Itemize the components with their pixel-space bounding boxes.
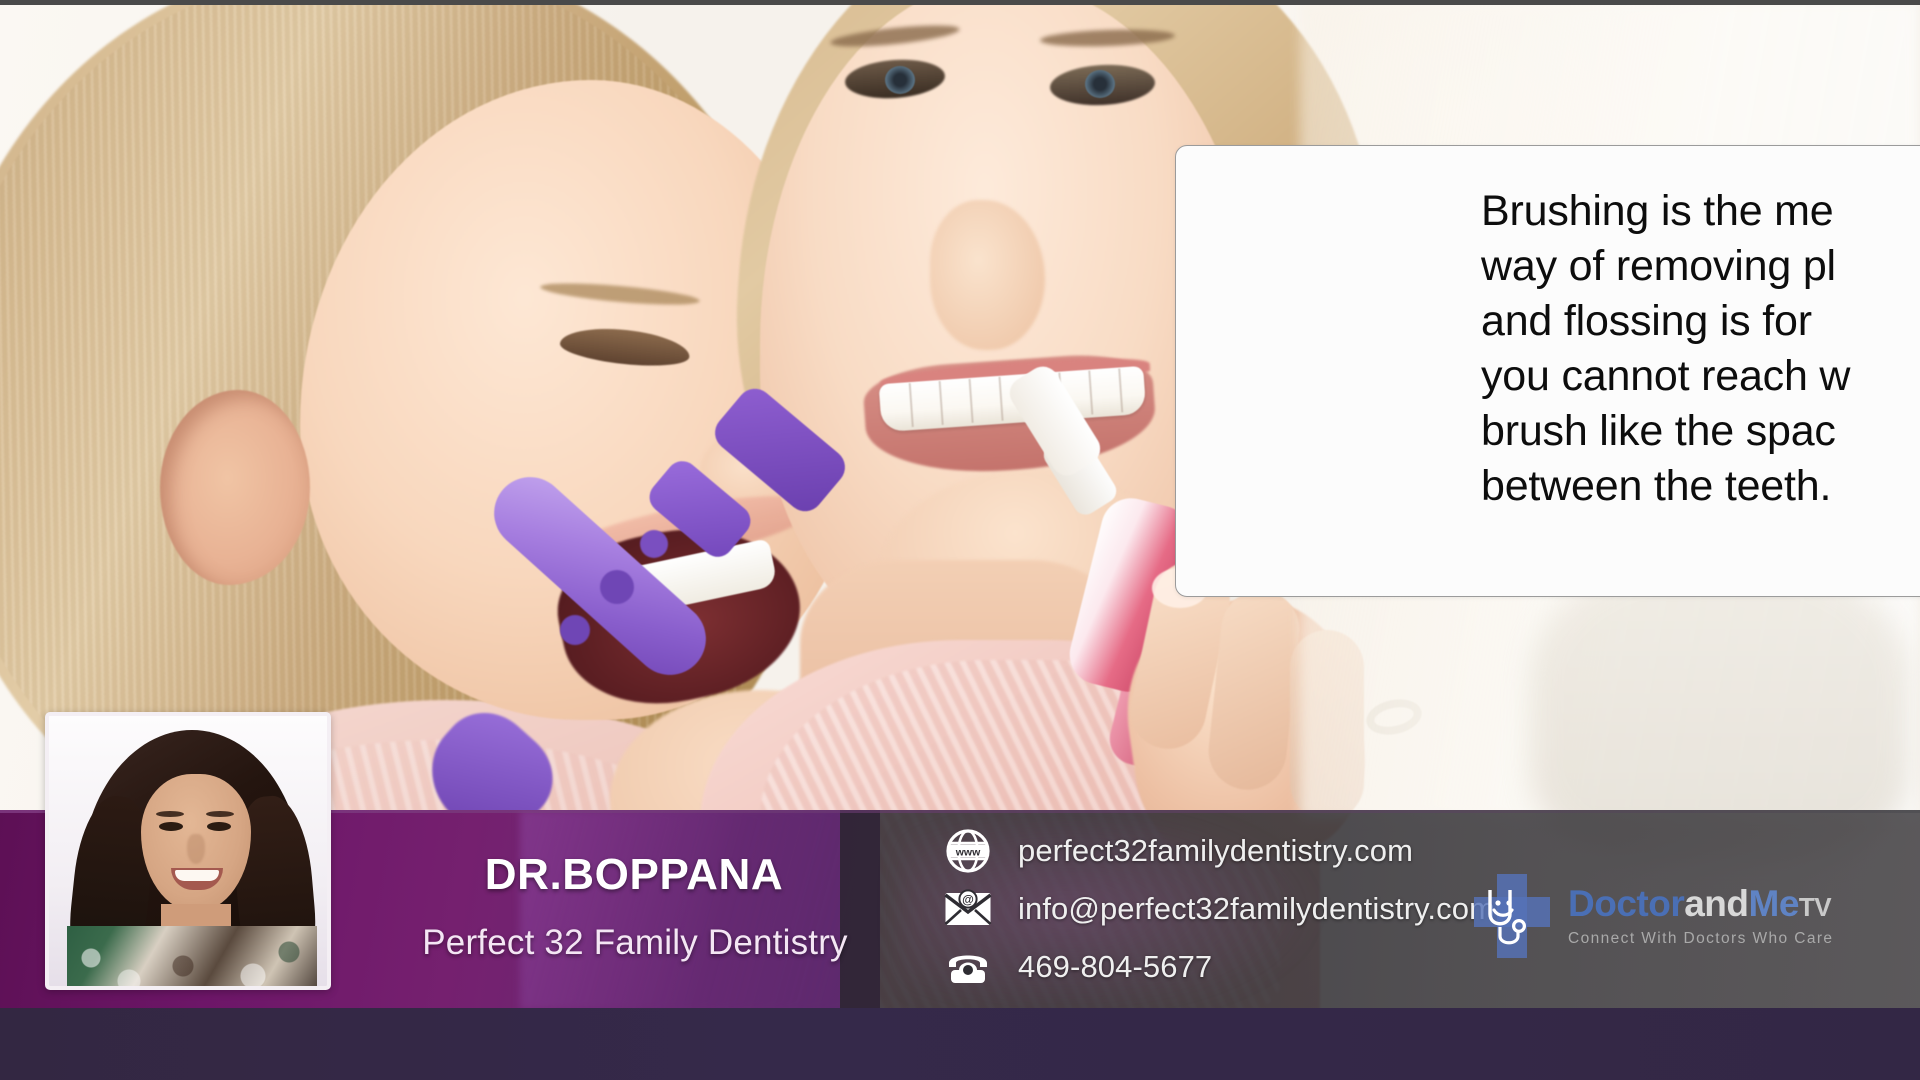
doctorandme-tv-logo[interactable]: DoctorandMeTV Connect With Doctors Who C… — [1466, 866, 1886, 966]
logo-word-tv: TV — [1799, 892, 1831, 922]
envelope-email-icon: @ — [938, 885, 998, 933]
doctor-eyebrow-left — [156, 811, 184, 817]
logo-wordmark: DoctorandMeTV Connect With Doctors Who C… — [1568, 885, 1833, 948]
doctor-nose — [187, 834, 205, 864]
contact-row-email[interactable]: @ info@perfect32familydentistry.com — [938, 880, 1495, 938]
logo-title: DoctorandMeTV — [1568, 883, 1831, 924]
logo-word-and: and — [1684, 883, 1748, 924]
doctor-eyebrow-right — [206, 811, 234, 817]
logo-word-doctor: Doctor — [1568, 883, 1684, 924]
svg-text:www: www — [955, 846, 981, 858]
purple-toothbrush-grip-dot — [600, 570, 634, 604]
caption-text: Brushing is the me way of removing pl an… — [1481, 184, 1920, 514]
purple-toothbrush-grip-dot — [560, 615, 590, 645]
logo-tagline: Connect With Doctors Who Care — [1568, 930, 1833, 948]
doctor-eye-left — [159, 822, 183, 831]
globe-www-icon: www — [938, 827, 998, 875]
email-value: info@perfect32familydentistry.com — [1018, 891, 1495, 927]
practice-name: Perfect 32 Family Dentistry — [350, 923, 920, 963]
contact-row-website[interactable]: www perfect32familydentistry.com — [938, 822, 1495, 880]
contact-row-phone[interactable]: 469-804-5677 — [938, 938, 1495, 996]
doctor-blouse-pattern — [67, 926, 317, 990]
footer-url-bar — [0, 1008, 1920, 1080]
medical-cross-stethoscope-icon — [1466, 870, 1558, 962]
doctor-headshot-avatar — [45, 712, 331, 990]
phone-value: 469-804-5677 — [1018, 949, 1212, 985]
purple-toothbrush-grip-dot — [640, 530, 668, 558]
doctor-name: DR.BOPPANA — [394, 850, 874, 900]
video-frame: Brushing is the me way of removing pl an… — [0, 0, 1920, 1080]
top-bezel — [0, 0, 1920, 5]
contact-list: www perfect32familydentistry.com @ info@… — [938, 822, 1495, 996]
svg-text:@: @ — [962, 892, 974, 906]
telephone-icon — [938, 943, 998, 991]
doctor-eye-right — [207, 822, 231, 831]
logo-word-me: Me — [1749, 883, 1799, 924]
mother-iris-left — [885, 66, 915, 94]
mother-iris-right — [1085, 70, 1115, 98]
banner-sheen — [520, 810, 880, 1010]
doctor-teeth — [175, 870, 219, 881]
website-value: perfect32familydentistry.com — [1018, 833, 1413, 869]
caption-card: Brushing is the me way of removing pl an… — [1175, 145, 1920, 597]
